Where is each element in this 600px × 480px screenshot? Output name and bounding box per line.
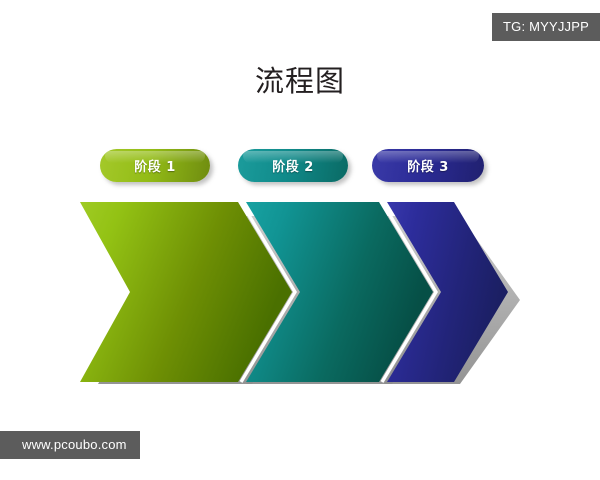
stage-pill-label-3: 阶段 3: [407, 156, 449, 175]
stage-pill-3[interactable]: 阶段 3: [372, 149, 484, 182]
stage-pill-label-2: 阶段 2: [272, 156, 314, 175]
stage-pill-label-1: 阶段 1: [134, 156, 176, 175]
process-diagram: 阶段 1 阶段 2 阶段 3: [0, 0, 600, 480]
stage-pill-1[interactable]: 阶段 1: [100, 149, 210, 182]
chevron-band: [0, 0, 600, 480]
bottom-left-watermark-badge: www.pcoubo.com: [0, 431, 140, 459]
stage-pill-2[interactable]: 阶段 2: [238, 149, 348, 182]
